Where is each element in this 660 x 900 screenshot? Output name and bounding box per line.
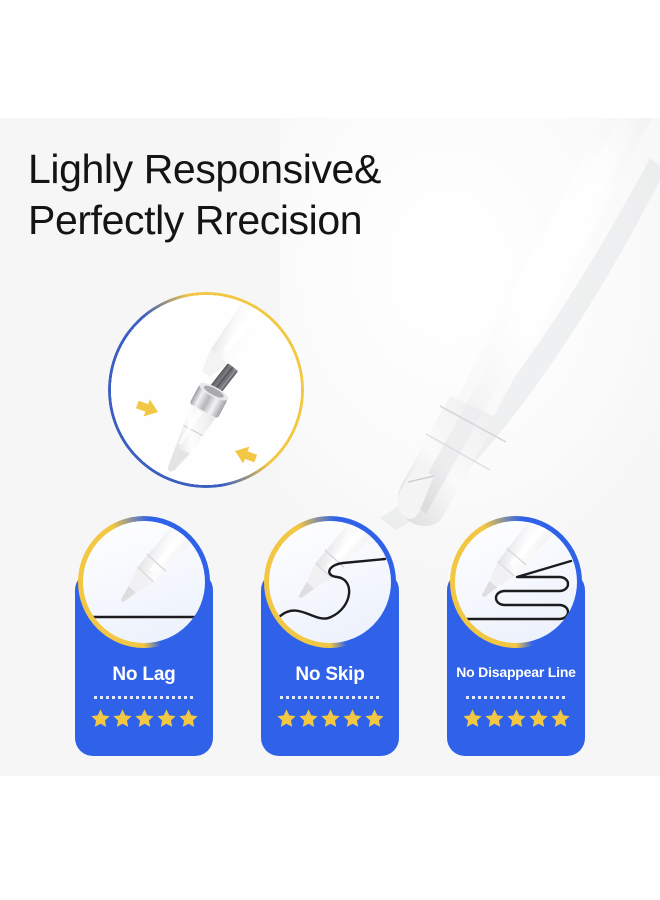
feature-card-no-disappear-line[interactable]: No Disappear Line [447,516,585,756]
star-icon [90,708,111,729]
card-rating-stars [447,708,585,729]
replaceable-tip-detail-circle [108,292,304,488]
arrow-right [232,443,259,467]
card-divider [94,696,194,699]
card-label: No Lag [75,664,213,686]
star-icon [484,708,505,729]
page-title: Lighly Responsive& Perfectly Rrecision [28,144,498,246]
letterbox-top [0,0,660,118]
star-icon [178,708,199,729]
star-icon [134,708,155,729]
feature-card-no-skip[interactable]: No Skip [261,516,399,756]
star-icon [298,708,319,729]
star-icon [112,708,133,729]
card-circle-content [83,521,205,643]
product-image-frame: Lighly Responsive& Perfectly Rrecision [0,0,660,900]
arrow-left [134,396,161,420]
card-label: No Disappear Line [447,664,585,680]
card-rating-stars [261,708,399,729]
card-divider [280,696,380,699]
star-icon [550,708,571,729]
star-icon [462,708,483,729]
star-icon [342,708,363,729]
star-icon [320,708,341,729]
card-illustration-circle [264,516,396,648]
card-rating-stars [75,708,213,729]
star-icon [528,708,549,729]
card-illustration-circle [78,516,210,648]
card-illustration-circle [450,516,582,648]
feature-card-no-lag[interactable]: No Lag [75,516,213,756]
card-circle-content [455,521,577,643]
star-icon [276,708,297,729]
star-icon [364,708,385,729]
star-icon [156,708,177,729]
feature-cards-row: No Lag [0,516,660,756]
letterbox-bottom [0,776,660,900]
product-canvas: Lighly Responsive& Perfectly Rrecision [0,118,660,776]
card-label: No Skip [261,664,399,686]
card-divider [466,696,566,699]
detail-circle-content [111,295,301,485]
card-circle-content [269,521,391,643]
star-icon [506,708,527,729]
